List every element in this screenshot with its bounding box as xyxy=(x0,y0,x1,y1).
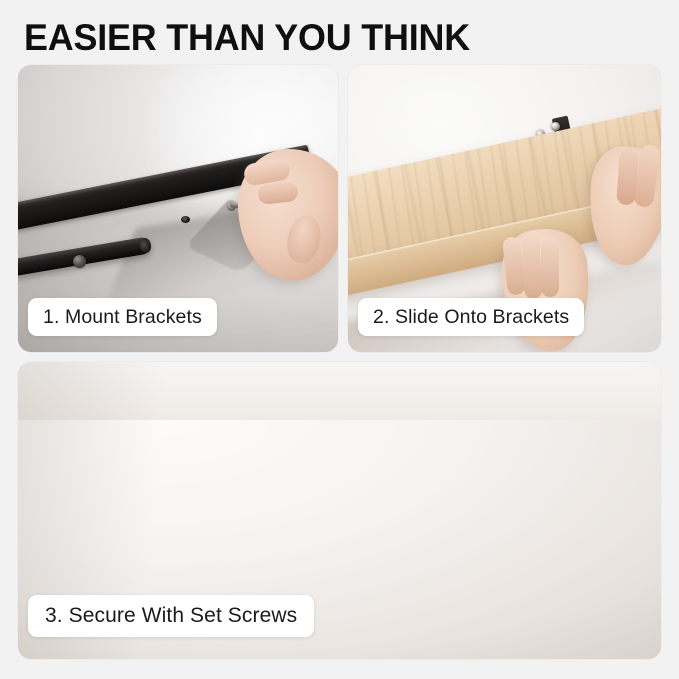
mounting-screw-icon xyxy=(73,255,86,268)
step-card-2[interactable]: 2. Slide Onto Brackets xyxy=(348,65,661,352)
instruction-step-grid: 1. Mount Brackets xyxy=(18,65,661,659)
step-1-caption: 1. Mount Brackets xyxy=(28,298,217,336)
hand-finger xyxy=(616,148,639,205)
step-3-caption: 3. Secure With Set Screws xyxy=(28,595,314,637)
hand-finger xyxy=(521,235,542,300)
step-card-1[interactable]: 1. Mount Brackets xyxy=(18,65,338,352)
step-card-3[interactable]: 3. Secure With Set Screws xyxy=(18,362,661,659)
step-2-caption: 2. Slide Onto Brackets xyxy=(358,298,584,336)
page-title: EASIER THAN YOU THINK xyxy=(24,16,470,60)
hand-finger xyxy=(541,237,559,297)
bracket-hole-middle xyxy=(181,216,190,223)
